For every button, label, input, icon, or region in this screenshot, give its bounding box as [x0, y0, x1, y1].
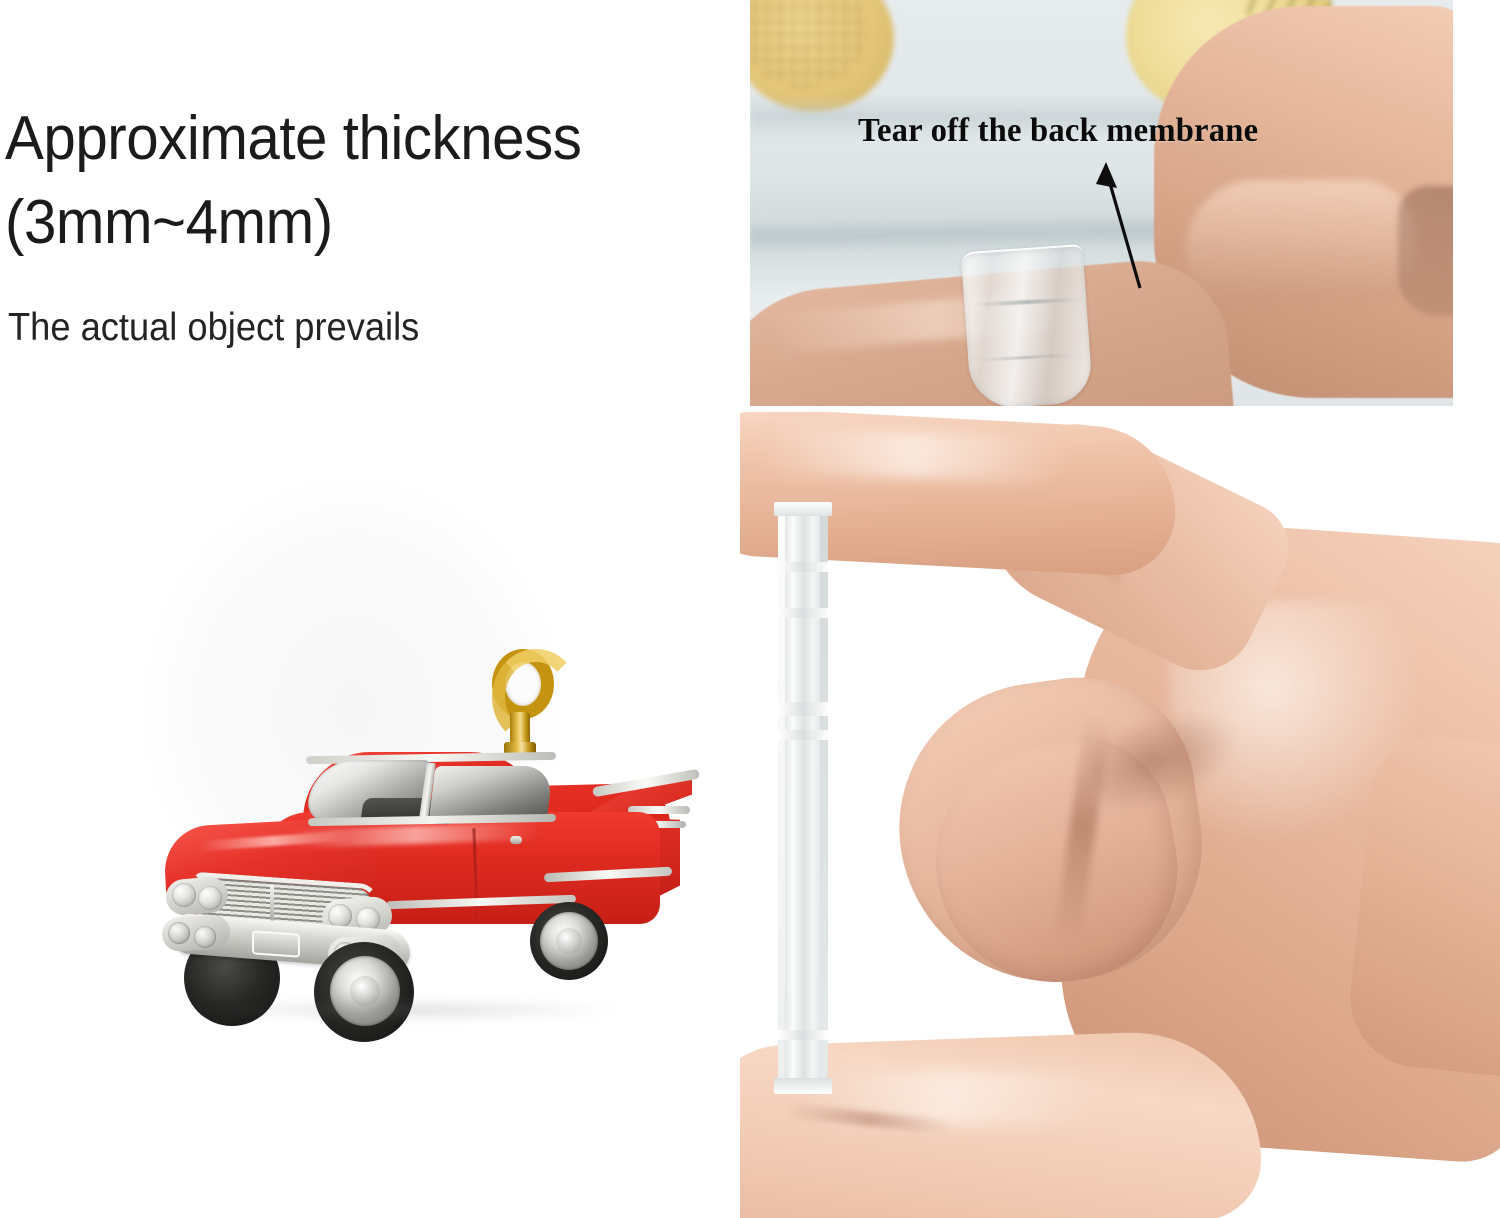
car-ground-shadow	[200, 998, 620, 1022]
tear-off-membrane-photo: Tear off the back membrane	[750, 0, 1453, 406]
acrylic-sheet-back-edge	[820, 506, 828, 1084]
inset-acrylic-disc	[961, 244, 1094, 406]
acrylic-sheet-band-3	[778, 702, 828, 716]
inset-thumb-shadow	[1398, 186, 1453, 316]
car-headlight-2	[198, 886, 222, 910]
acrylic-sheet-bottom-end	[774, 1078, 832, 1094]
up-arrow-annotation-icon	[1090, 158, 1150, 293]
page-title: Approximate thickness (3mm~4mm)	[5, 97, 719, 265]
acrylic-sheet-band-4	[778, 730, 828, 740]
product-image-canvas: Approximate thickness (3mm~4mm) The actu…	[0, 0, 1500, 1218]
car-headlight-1	[172, 883, 196, 907]
inset-thumb-knuckle-highlight	[1186, 180, 1416, 300]
car-door-handle	[510, 836, 522, 844]
car-grille-divider	[270, 885, 274, 923]
acrylic-sheet-front-edge	[778, 506, 785, 1084]
car-license-plate-recess	[252, 930, 300, 957]
acrylic-sheet-band-2	[778, 608, 828, 618]
disclaimer-text: The actual object prevails	[8, 304, 603, 352]
car-foglight-2	[194, 926, 216, 948]
inset-caption: Tear off the back membrane	[858, 112, 1357, 150]
hand-holding-acrylic-sheet-photo	[740, 412, 1500, 1218]
acrylic-sheet-band-1	[778, 562, 828, 572]
gold-loop-ring-icon	[492, 649, 554, 719]
car-foglight-1	[168, 922, 190, 944]
acrylic-sheet-band-5	[778, 1030, 828, 1040]
red-classic-car-ornament	[140, 630, 670, 995]
acrylic-sheet-top-end	[774, 502, 832, 516]
car-rear-hubcap	[540, 912, 598, 970]
